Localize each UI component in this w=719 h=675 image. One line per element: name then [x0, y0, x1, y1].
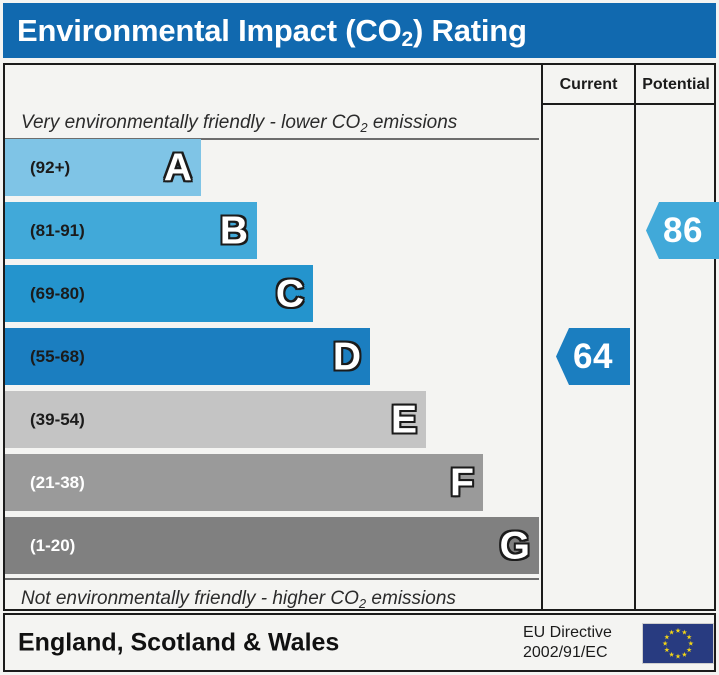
- band-letter-a: A: [164, 148, 192, 187]
- caption-bottom-prefix: Not environmentally friendly - higher CO: [21, 588, 359, 609]
- caption-bottom-subscript: 2: [359, 596, 366, 611]
- epc-environmental-impact-chart: Environmental Impact (CO2) Rating Curren…: [0, 0, 719, 675]
- band-letter-d: D: [333, 337, 361, 376]
- caption-top-suffix: emissions: [368, 112, 458, 133]
- caption-bottom-suffix: emissions: [366, 588, 456, 609]
- band-letter-c: C: [276, 274, 304, 313]
- chart-footer: England, Scotland & Wales EU Directive 2…: [3, 613, 716, 672]
- page-title: Environmental Impact (CO2) Rating: [17, 13, 527, 49]
- band-letter-f: F: [450, 463, 474, 502]
- band-range-f: (21-38): [30, 473, 85, 493]
- band-range-c: (69-80): [30, 284, 85, 304]
- band-range-a: (92+): [30, 158, 70, 178]
- footer-region-label: England, Scotland & Wales: [18, 628, 339, 657]
- rating-arrow-current: 64: [556, 328, 630, 385]
- caption-bottom-rule: [5, 578, 539, 580]
- band-range-d: (55-68): [30, 347, 85, 367]
- footer-directive-line1: EU Directive: [523, 623, 612, 643]
- page-title-prefix: Environmental Impact (CO: [17, 13, 402, 48]
- band-letter-b: B: [220, 211, 248, 250]
- page-title-suffix: ) Rating: [413, 13, 527, 48]
- rating-band-d: (55-68)D: [5, 328, 370, 385]
- column-divider-potential: [634, 65, 636, 611]
- rating-band-e: (39-54)E: [5, 391, 426, 448]
- band-letter-g: G: [500, 526, 530, 565]
- footer-directive-line2: 2002/91/EC: [523, 643, 612, 663]
- band-range-g: (1-20): [30, 536, 75, 556]
- rating-band-b: (81-91)B: [5, 202, 257, 259]
- rating-band-g: (1-20)G: [5, 517, 539, 574]
- eu-flag-icon: [642, 623, 714, 664]
- page-title-subscript: 2: [402, 28, 413, 51]
- rating-table: Current Potential Very environmentally f…: [3, 63, 716, 611]
- rating-band-a: (92+)A: [5, 139, 201, 196]
- column-header-current: Current: [543, 73, 634, 97]
- band-letter-e: E: [391, 400, 417, 439]
- rating-band-f: (21-38)F: [5, 454, 483, 511]
- chart-title-bar: Environmental Impact (CO2) Rating: [3, 3, 716, 58]
- caption-top-subscript: 2: [360, 120, 367, 135]
- caption-top-prefix: Very environmentally friendly - lower CO: [21, 112, 360, 133]
- caption-top: Very environmentally friendly - lower CO…: [21, 112, 457, 134]
- rating-bands-container: (92+)A(81-91)B(69-80)C(55-68)D(39-54)E(2…: [5, 139, 539, 578]
- band-range-e: (39-54): [30, 410, 85, 430]
- footer-directive-label: EU Directive 2002/91/EC: [523, 623, 612, 663]
- rating-band-c: (69-80)C: [5, 265, 313, 322]
- column-header-rule: [541, 103, 716, 105]
- band-range-b: (81-91): [30, 221, 85, 241]
- column-header-potential: Potential: [636, 73, 716, 97]
- caption-bottom: Not environmentally friendly - higher CO…: [21, 588, 456, 610]
- rating-arrow-potential: 86: [646, 202, 719, 259]
- column-divider-current: [541, 65, 543, 611]
